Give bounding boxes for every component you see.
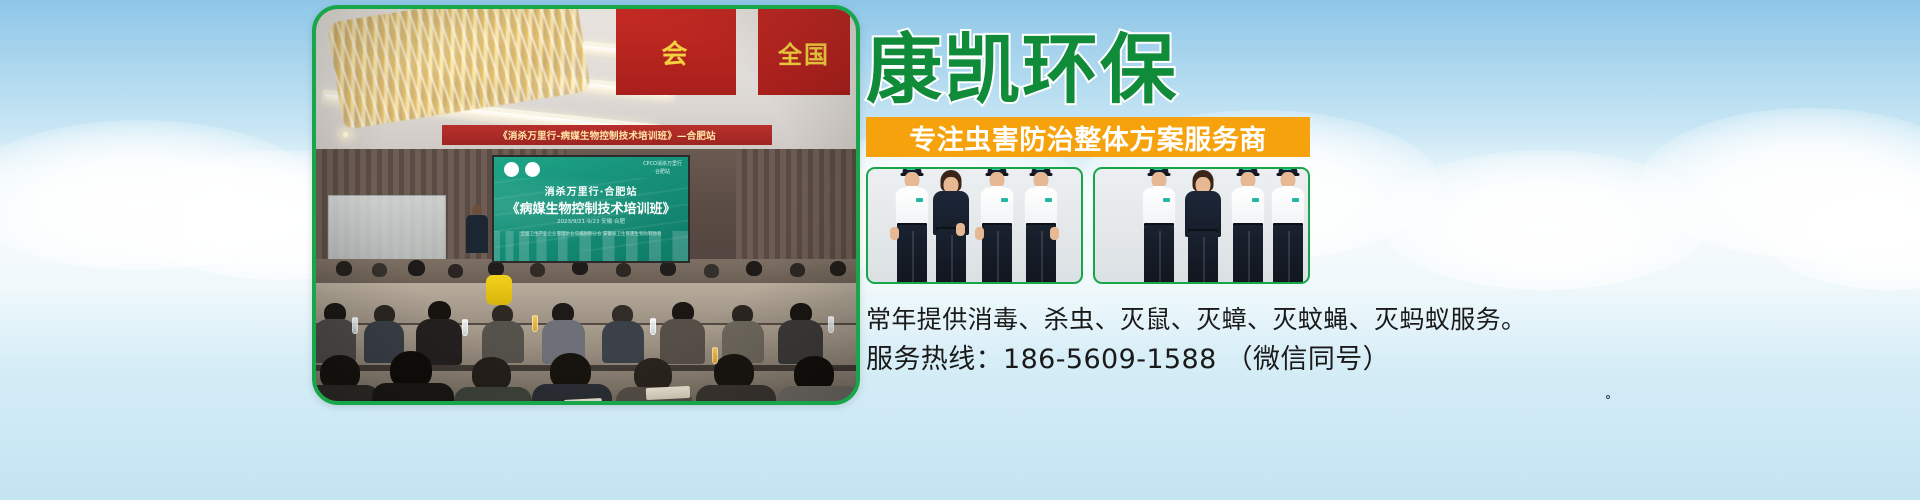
decorative-dot-icon bbox=[1606, 395, 1610, 399]
promo-banner: 会 全国 《消杀万里行-病媒生物控制技术培训班》—合肥站 CPCO消杀万里行 合… bbox=[0, 0, 1920, 500]
team-photo-row bbox=[866, 167, 1310, 284]
wall-sign-left-text: 会 bbox=[661, 34, 690, 71]
team-photo-1 bbox=[866, 167, 1083, 284]
tagline-text: 专注虫害防治整体方案服务商 bbox=[909, 118, 1267, 157]
led-line-1: 消杀万里行·合肥站 bbox=[494, 183, 688, 198]
services-line: 常年提供消毒、杀虫、灭鼠、灭蟑、灭蚊蝇、灭蚂蚁服务。 bbox=[866, 300, 1526, 336]
wall-sign-right-text: 全国 bbox=[778, 35, 830, 70]
led-screen: CPCO消杀万里行 合肥站 消杀万里行·合肥站 《病媒生物控制技术培训班》 20… bbox=[492, 155, 690, 263]
speaker-figure bbox=[466, 205, 488, 253]
conference-photo: 会 全国 《消杀万里行-病媒生物控制技术培训班》—合肥站 CPCO消杀万里行 合… bbox=[312, 5, 860, 405]
led-skyline-graphic bbox=[494, 231, 688, 261]
hall-banner: 《消杀万里行-病媒生物控制技术培训班》—合肥站 bbox=[442, 125, 772, 145]
led-line-2: 《病媒生物控制技术培训班》 bbox=[494, 198, 688, 217]
tagline-bar: 专注虫害防治整体方案服务商 bbox=[866, 117, 1310, 157]
wall-sign-right: 全国 bbox=[758, 9, 850, 95]
led-corner-label: CPCO消杀万里行 合肥站 bbox=[643, 161, 682, 176]
led-line-3: 2023/9/21-9/23 安徽·合肥 bbox=[494, 217, 688, 225]
led-corner-main: CPCO消杀万里行 bbox=[643, 161, 682, 169]
led-corner-sub: 合肥站 bbox=[643, 169, 682, 177]
led-logos bbox=[504, 162, 540, 177]
content-column: 康凯环保 专注虫害防治整体方案服务商 bbox=[866, 0, 1920, 500]
hotline-line: 服务热线：186-5609-1588 （微信同号） bbox=[866, 337, 1390, 376]
safety-vest bbox=[486, 275, 512, 305]
hall-banner-text: 《消杀万里行-病媒生物控制技术培训班》—合肥站 bbox=[498, 128, 716, 142]
team-photo-2 bbox=[1093, 167, 1310, 284]
brand-title: 康凯环保 bbox=[866, 32, 1178, 108]
audience-area bbox=[316, 259, 856, 401]
wall-sign-left: 会 bbox=[616, 9, 736, 95]
